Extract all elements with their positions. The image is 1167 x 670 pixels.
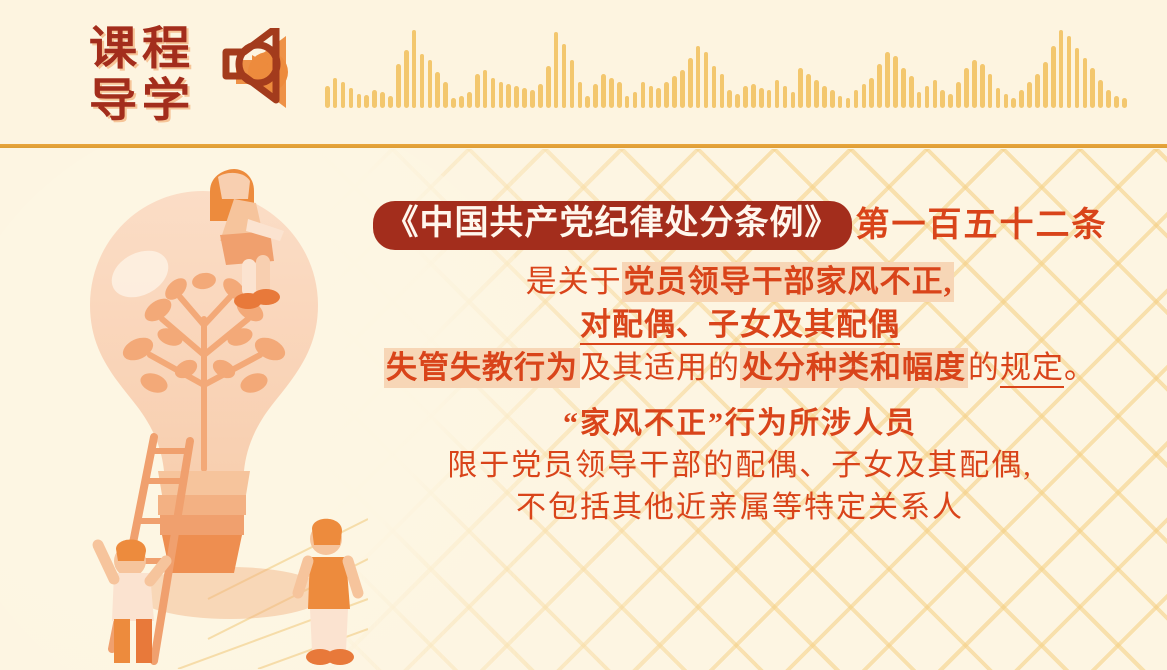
infographic-slide: 课 程 导 学 (0, 0, 1167, 670)
waveform-bar (333, 78, 338, 108)
waveform-bar (625, 96, 630, 108)
waveform-bar (506, 84, 511, 108)
waveform-bar (1059, 30, 1064, 108)
waveform-bar (720, 74, 725, 108)
waveform-bar (712, 66, 717, 108)
waveform-bar (412, 30, 417, 108)
waveform-bar (451, 98, 456, 108)
waveform-bar (940, 90, 945, 108)
waveform-bar (428, 60, 433, 108)
waveform-bar (1075, 48, 1080, 108)
waveform-bar (775, 80, 780, 108)
line6-text: 限于党员领导干部的配偶、子女及其配偶, (447, 449, 1033, 482)
waveform-bar (499, 82, 504, 108)
waveform-bar (948, 94, 953, 108)
waveform-bar (996, 88, 1001, 108)
waveform-bar (364, 95, 369, 108)
waveform-bar (767, 90, 772, 108)
waveform-bar (901, 68, 906, 108)
waveform-bar (1019, 90, 1024, 108)
waveform-bar (491, 78, 496, 108)
lightbulb-illustration (58, 169, 368, 669)
waveform-bar (854, 90, 859, 108)
waveform-bar (806, 74, 811, 108)
waveform-bar (538, 84, 543, 108)
waveform-bar (562, 44, 567, 108)
waveform-bar (672, 76, 677, 108)
waveform-bar (838, 96, 843, 108)
speaker-play-icon[interactable] (222, 28, 300, 120)
waveform-bar (862, 84, 867, 108)
waveform-bar (341, 82, 346, 108)
waveform-bar (783, 86, 788, 108)
waveform-bar (546, 66, 551, 108)
line2-highlight: 党员领导干部家风不正, (622, 262, 955, 302)
course-guide-logo: 课 程 导 学 (86, 22, 192, 126)
text-line-1: 《中国共产党纪律处分条例》第一百五十二条 (330, 201, 1150, 250)
line4-plain-2: 的 (968, 350, 1000, 385)
text-line-4: 失管失教行为及其适用的处分种类和幅度的规定。 (330, 352, 1150, 383)
waveform-bar (822, 86, 827, 108)
waveform-bar (1114, 96, 1119, 108)
waveform-bar (1090, 68, 1095, 108)
waveform-bar (443, 82, 448, 108)
waveform-bar (601, 74, 606, 108)
logo-char-3: 导 (85, 74, 141, 126)
waveform-bar (1011, 98, 1016, 108)
waveform-bar (869, 78, 874, 108)
line4-plain-1: 及其适用的 (580, 350, 740, 385)
text-line-3: 对配偶、子女及其配偶 (330, 309, 1150, 340)
header-bar: 课 程 导 学 (0, 0, 1167, 148)
waveform-bar (641, 82, 646, 108)
waveform-bar (727, 90, 732, 108)
waveform-bar (570, 60, 575, 108)
waveform-bar (680, 70, 685, 108)
text-line-2: 是关于党员领导干部家风不正, (330, 266, 1150, 297)
waveform-bar (578, 82, 583, 108)
waveform-bar (688, 58, 693, 108)
waveform-bar (877, 64, 882, 108)
waveform-bar (1122, 98, 1127, 108)
line4-plain-3: 。 (1064, 350, 1096, 385)
regulation-title-badge: 《中国共产党纪律处分条例》 (373, 201, 852, 250)
waveform-bar (467, 92, 472, 108)
waveform-bar (617, 82, 622, 108)
logo-char-2: 程 (138, 22, 194, 74)
waveform-bar (349, 88, 354, 108)
line7-text: 不包括其他近亲属等特定关系人 (516, 491, 964, 524)
waveform-bar (743, 86, 748, 108)
waveform-bar (759, 88, 764, 108)
waveform-bar (459, 96, 464, 108)
waveform-bar (1035, 74, 1040, 108)
waveform-bar (704, 52, 709, 108)
waveform-bar (830, 90, 835, 108)
waveform-bar (593, 84, 598, 108)
waveform-bar (435, 72, 440, 108)
waveform-bar (885, 52, 890, 108)
waveform-bar (735, 94, 740, 108)
header-divider (0, 144, 1167, 148)
waveform-bar (1043, 62, 1048, 108)
waveform-bar (554, 32, 559, 108)
waveform-bar (475, 74, 480, 108)
waveform-bar (585, 96, 590, 108)
text-line-7: 不包括其他近亲属等特定关系人 (330, 493, 1150, 523)
waveform-bar (909, 76, 914, 108)
line2-plain: 是关于 (526, 264, 622, 299)
waveform-bar (1004, 94, 1009, 108)
waveform-bar (1051, 46, 1056, 108)
logo-char-4: 学 (138, 74, 194, 126)
waveform-bar (791, 92, 796, 108)
waveform-bar (917, 92, 922, 108)
waveform-bar (1067, 36, 1072, 108)
waveform-bar (988, 74, 993, 108)
waveform-bar (664, 82, 669, 108)
waveform-bar (633, 92, 638, 108)
regulation-text-block: 《中国共产党纪律处分条例》第一百五十二条 是关于党员领导干部家风不正, 对配偶、… (330, 201, 1150, 535)
line5-text: “家风不正”行为所涉人员 (563, 407, 917, 440)
waveform-bar (925, 86, 930, 108)
waveform-bar (798, 68, 803, 108)
waveform-bar (964, 68, 969, 108)
waveform-bar (530, 90, 535, 108)
waveform-bar (396, 64, 401, 108)
waveform-bar (404, 50, 409, 108)
line4-highlight-2: 处分种类和幅度 (740, 348, 968, 388)
waveform-bar (522, 88, 527, 108)
waveform-bar (649, 86, 654, 108)
waveform-bar (514, 86, 519, 108)
waveform-bar (420, 54, 425, 108)
waveform-bar (846, 98, 851, 108)
waveform-bar (893, 56, 898, 108)
text-line-6: 限于党员领导干部的配偶、子女及其配偶, (330, 451, 1150, 481)
waveform-bar (1027, 82, 1032, 108)
waveform-bar (357, 94, 362, 108)
waveform-bar (972, 60, 977, 108)
waveform-bar (980, 64, 985, 108)
audio-waveform (325, 16, 1130, 108)
waveform-bar (814, 80, 819, 108)
waveform-bar (483, 70, 488, 108)
waveform-bar (656, 88, 661, 108)
logo-char-1: 课 (85, 22, 141, 74)
waveform-bar (696, 46, 701, 108)
content-area: 《中国共产党纪律处分条例》第一百五十二条 是关于党员领导干部家风不正, 对配偶、… (0, 149, 1167, 670)
waveform-bar (956, 82, 961, 108)
line4-highlight-1: 失管失教行为 (384, 348, 580, 388)
waveform-bar (1098, 80, 1103, 108)
waveform-bar (325, 86, 330, 108)
waveform-bar (751, 84, 756, 108)
line3-underline: 对配偶、子女及其配偶 (580, 307, 900, 345)
article-number: 第一百五十二条 (856, 207, 1108, 244)
waveform-bar (380, 92, 385, 108)
waveform-bar (388, 96, 393, 108)
waveform-bar (1083, 58, 1088, 108)
waveform-bar (609, 78, 614, 108)
line4-underline: 规定 (1000, 350, 1064, 388)
waveform-bar (933, 80, 938, 108)
text-line-5: “家风不正”行为所涉人员 (330, 409, 1150, 439)
waveform-bar (1106, 90, 1111, 108)
waveform-bar (372, 90, 377, 108)
